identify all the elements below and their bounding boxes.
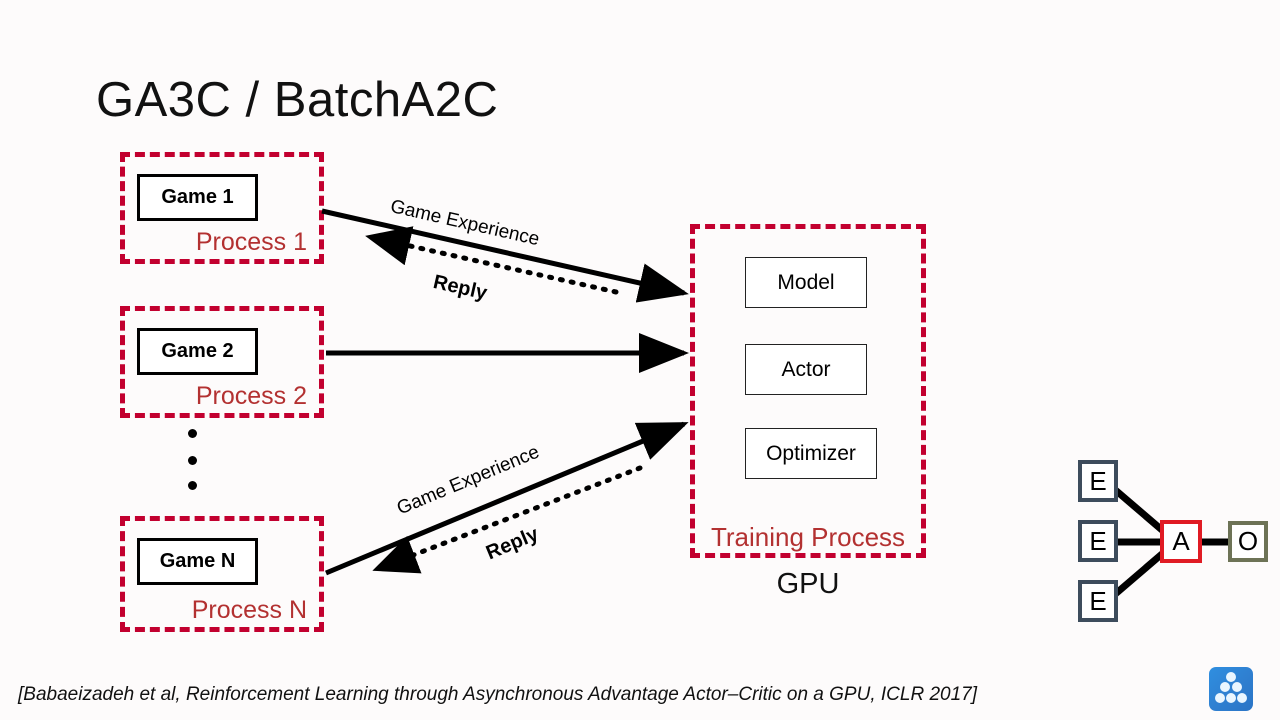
process-label-2: Process 2 [196,382,307,411]
logo-glyph [1209,667,1253,711]
process-label-n: Process N [192,596,307,625]
game-box-1: Game 1 [137,174,258,221]
ellipsis-dot-1 [188,429,197,438]
mini-actor-diagram: E E E A O [1070,460,1270,625]
game-box-2: Game 2 [137,328,258,375]
process-label-1: Process 1 [196,228,307,257]
arrow-label-game-experience-1: Game Experience [388,196,541,251]
model-box: Model [745,257,867,308]
mini-node-e-2: E [1078,520,1118,562]
mini-node-e-1: E [1078,460,1118,502]
brand-logo-icon [1209,667,1253,711]
optimizer-box: Optimizer [745,428,877,479]
page-title: GA3C / BatchA2C [96,72,498,128]
actor-box: Actor [745,344,867,395]
arrow-label-game-experience-3: Game Experience [394,442,543,521]
process-box-1: Game 1 Process 1 [120,152,324,264]
gpu-caption: GPU [690,568,926,601]
process-box-2: Game 2 Process 2 [120,306,324,418]
arrow-reply-1 [370,237,616,292]
arrow-label-reply-1: Reply [431,271,489,305]
training-process-box: Model Actor Optimizer Training Process [690,224,926,558]
slide-canvas: GA3C / BatchA2C Game 1 Process 1 Game 2 … [0,0,1280,720]
arrow-label-reply-3: Reply [483,523,542,565]
mini-node-o: O [1228,521,1268,562]
training-process-label: Training Process [695,522,921,553]
process-box-n: Game N Process N [120,516,324,632]
ellipsis-dot-2 [188,456,197,465]
citation-text: [Babaeizadeh et al, Reinforcement Learni… [18,684,977,706]
mini-node-a: A [1160,520,1202,563]
game-box-n: Game N [137,538,258,585]
ellipsis-dot-3 [188,481,197,490]
mini-node-e-3: E [1078,580,1118,622]
